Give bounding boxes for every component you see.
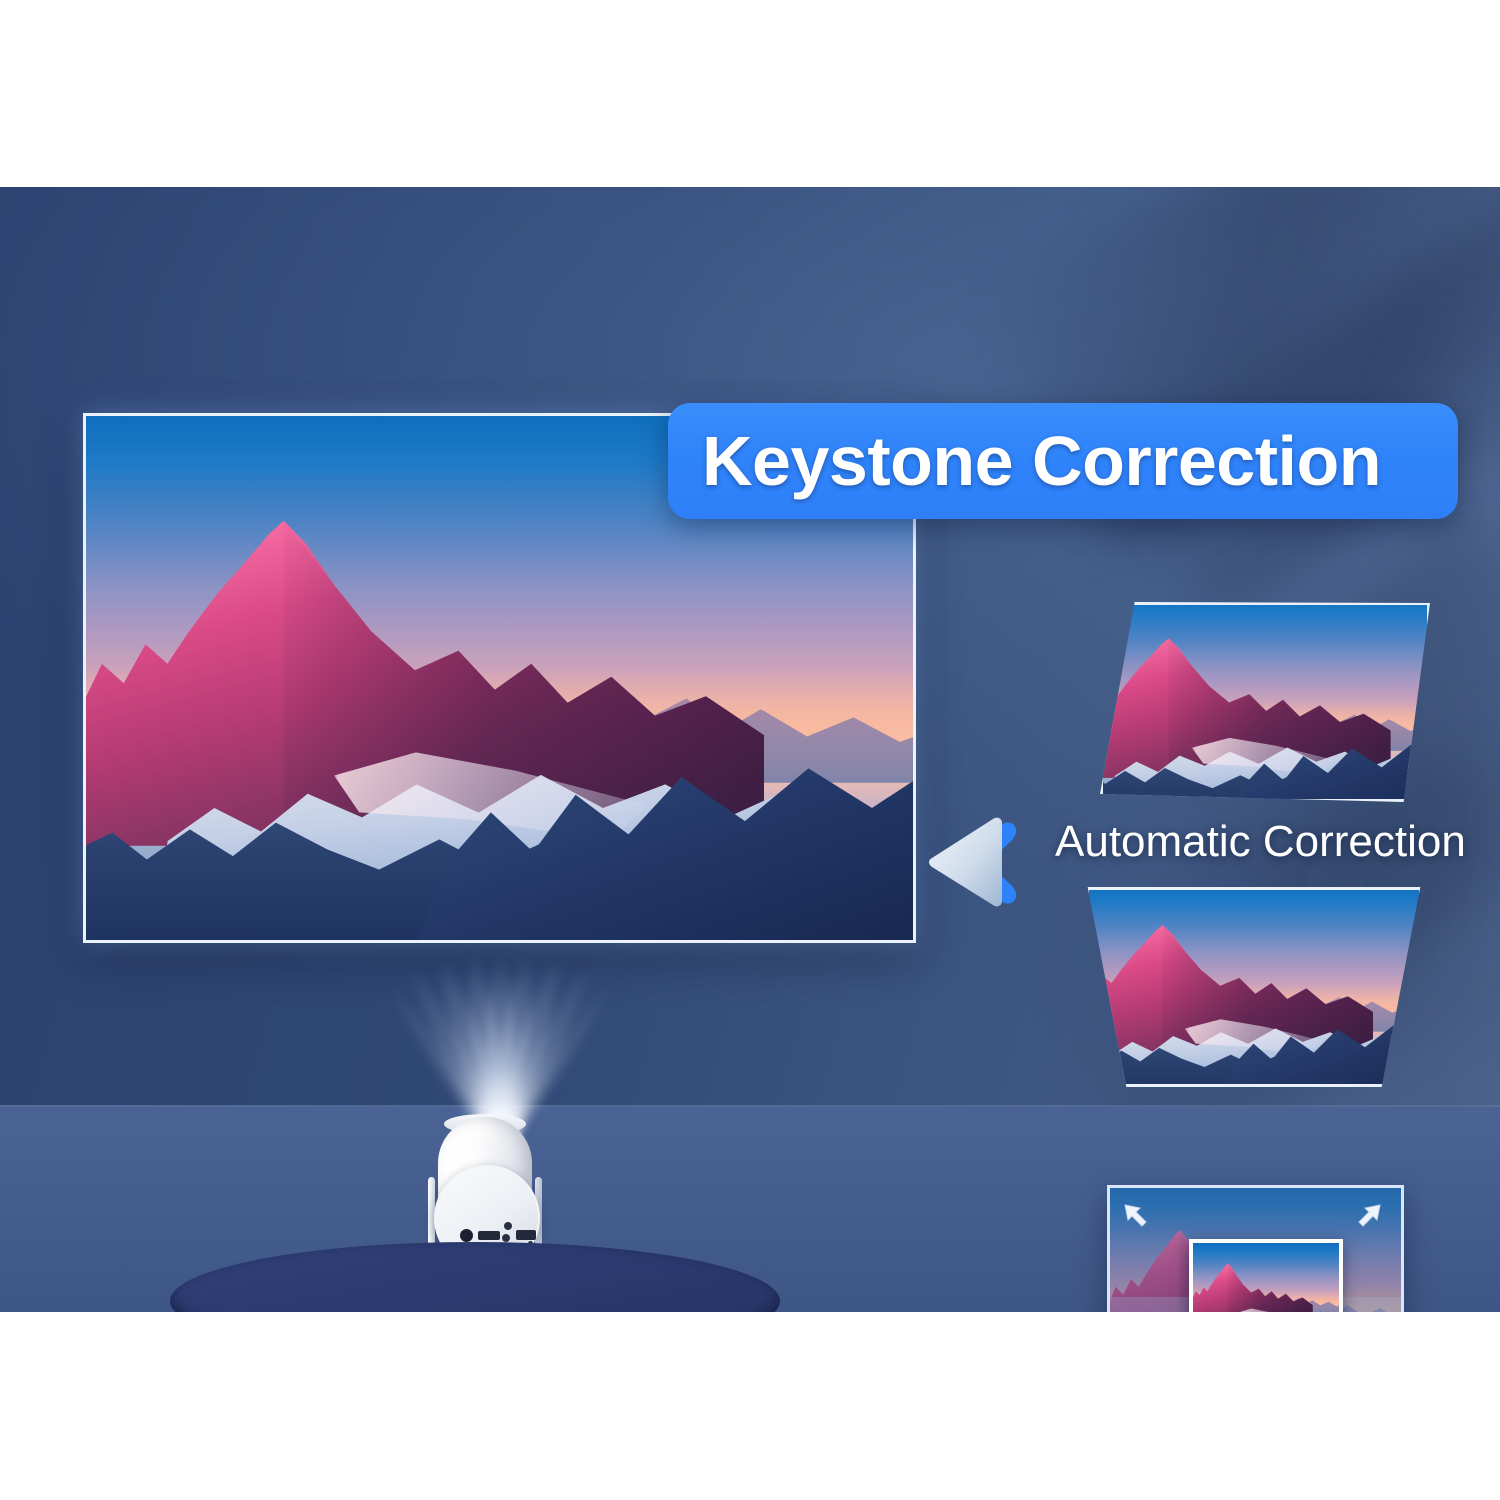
zoom-inner-frame <box>1189 1239 1343 1312</box>
mountain-artwork <box>1086 887 1422 1087</box>
zoom-arrow-top-right <box>1353 1202 1383 1232</box>
table-top <box>170 1242 780 1312</box>
page-title: Keystone Correction <box>668 426 1381 496</box>
title-banner: Keystone Correction <box>668 403 1458 519</box>
audio-jack-port <box>460 1229 473 1242</box>
trapezoid-preview <box>1086 887 1422 1087</box>
zoom-preview-panel <box>1107 1185 1404 1312</box>
button-one <box>504 1222 512 1230</box>
mountain-artwork <box>1100 602 1430 802</box>
usb-port <box>516 1230 536 1240</box>
skewed-parallelogram-preview <box>1100 602 1430 802</box>
hdmi-port <box>478 1231 500 1240</box>
product-feature-image: Automatic Correction <box>0 0 1500 1500</box>
zoom-arrow-top-left <box>1122 1202 1152 1232</box>
photo-scene: Automatic Correction <box>0 187 1500 1312</box>
round-side-table <box>170 1242 780 1312</box>
automatic-correction-label: Automatic Correction <box>1055 817 1466 867</box>
zoom-inner-image <box>1193 1243 1339 1312</box>
chevron-grey-icon <box>928 817 1008 907</box>
left-chevron-arrow <box>928 815 1028 911</box>
button-two <box>502 1234 510 1242</box>
